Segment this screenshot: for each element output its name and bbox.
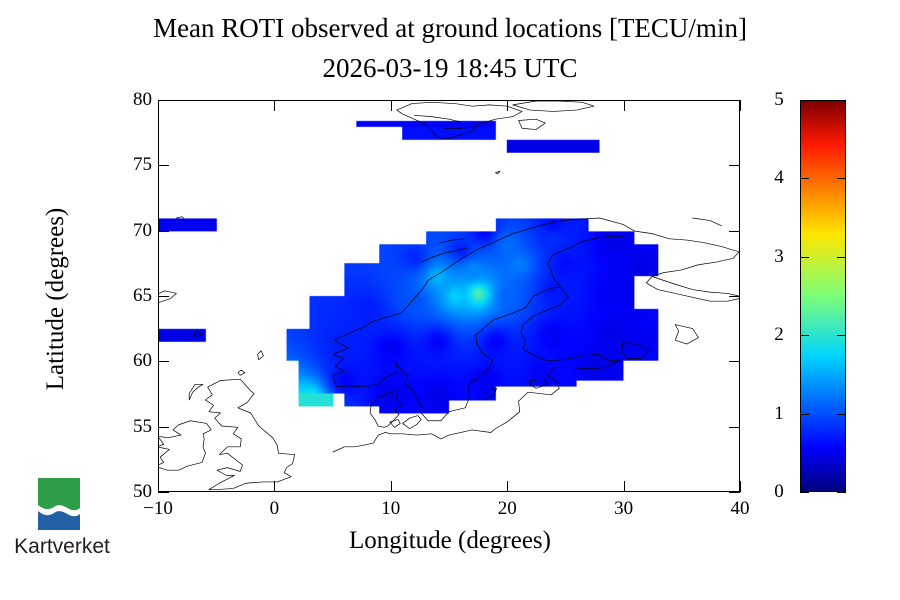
figure-root: Mean ROTI observed at ground locations [… bbox=[0, 0, 900, 600]
colorbar-tick-mark bbox=[837, 257, 846, 258]
y-tick-mark bbox=[729, 296, 740, 297]
x-tick-label: 30 bbox=[594, 498, 654, 520]
x-tick-mark bbox=[624, 100, 625, 111]
colorbar-gradient bbox=[800, 100, 846, 492]
x-tick-label: 10 bbox=[361, 498, 421, 520]
x-tick-mark bbox=[158, 481, 159, 492]
x-tick-mark bbox=[740, 100, 741, 111]
y-tick-mark bbox=[729, 231, 740, 232]
y-tick-label: 80 bbox=[106, 89, 152, 111]
y-tick-mark bbox=[158, 100, 169, 101]
colorbar-tick-mark bbox=[800, 414, 809, 415]
colorbar-tick-mark bbox=[800, 492, 809, 493]
colorbar-tick-mark bbox=[837, 178, 846, 179]
y-tick-label: 55 bbox=[106, 416, 152, 438]
y-tick-mark bbox=[158, 427, 169, 428]
colorbar-tick-mark bbox=[800, 178, 809, 179]
x-tick-mark bbox=[740, 481, 741, 492]
y-tick-mark bbox=[158, 165, 169, 166]
colorbar-tick-mark bbox=[837, 100, 846, 101]
figure-title-line1: Mean ROTI observed at ground locations [… bbox=[0, 13, 900, 44]
y-tick-mark bbox=[158, 492, 169, 493]
roti-heatmap-canvas bbox=[159, 101, 739, 491]
x-tick-mark bbox=[391, 481, 392, 492]
y-tick-mark bbox=[158, 296, 169, 297]
x-axis-label: Longitude (degrees) bbox=[159, 527, 741, 555]
colorbar-tick-label: 0 bbox=[764, 481, 794, 503]
colorbar bbox=[800, 100, 846, 492]
y-tick-mark bbox=[729, 427, 740, 428]
y-tick-mark bbox=[158, 231, 169, 232]
figure-title-line2: 2026-03-19 18:45 UTC bbox=[0, 53, 900, 84]
y-axis-label: Latitude (degrees) bbox=[42, 149, 70, 449]
colorbar-tick-mark bbox=[800, 257, 809, 258]
colorbar-tick-label: 4 bbox=[764, 167, 794, 189]
y-tick-mark bbox=[729, 165, 740, 166]
y-tick-mark bbox=[729, 361, 740, 362]
colorbar-tick-mark bbox=[837, 335, 846, 336]
y-tick-mark bbox=[158, 361, 169, 362]
x-tick-mark bbox=[274, 481, 275, 492]
x-tick-label: 40 bbox=[710, 498, 770, 520]
x-tick-mark bbox=[158, 100, 159, 111]
colorbar-tick-mark bbox=[800, 100, 809, 101]
colorbar-tick-label: 5 bbox=[764, 89, 794, 111]
x-tick-label: −10 bbox=[128, 498, 188, 520]
kartverket-logo-icon bbox=[38, 478, 80, 530]
colorbar-tick-mark bbox=[837, 492, 846, 493]
x-tick-mark bbox=[391, 100, 392, 111]
y-tick-label: 65 bbox=[106, 285, 152, 307]
colorbar-tick-label: 3 bbox=[764, 246, 794, 268]
colorbar-tick-label: 2 bbox=[764, 324, 794, 346]
x-tick-mark bbox=[507, 100, 508, 111]
y-tick-label: 60 bbox=[106, 350, 152, 372]
x-tick-label: 0 bbox=[244, 498, 304, 520]
y-tick-label: 70 bbox=[106, 220, 152, 242]
y-tick-label: 75 bbox=[106, 154, 152, 176]
colorbar-tick-mark bbox=[837, 414, 846, 415]
x-tick-label: 20 bbox=[477, 498, 537, 520]
kartverket-logo-text: Kartverket bbox=[0, 535, 124, 559]
colorbar-tick-label: 1 bbox=[764, 403, 794, 425]
y-tick-mark bbox=[729, 100, 740, 101]
colorbar-tick-mark bbox=[800, 335, 809, 336]
x-tick-mark bbox=[274, 100, 275, 111]
map-plot-area bbox=[158, 100, 740, 492]
x-tick-mark bbox=[624, 481, 625, 492]
y-tick-mark bbox=[729, 492, 740, 493]
x-tick-mark bbox=[507, 481, 508, 492]
